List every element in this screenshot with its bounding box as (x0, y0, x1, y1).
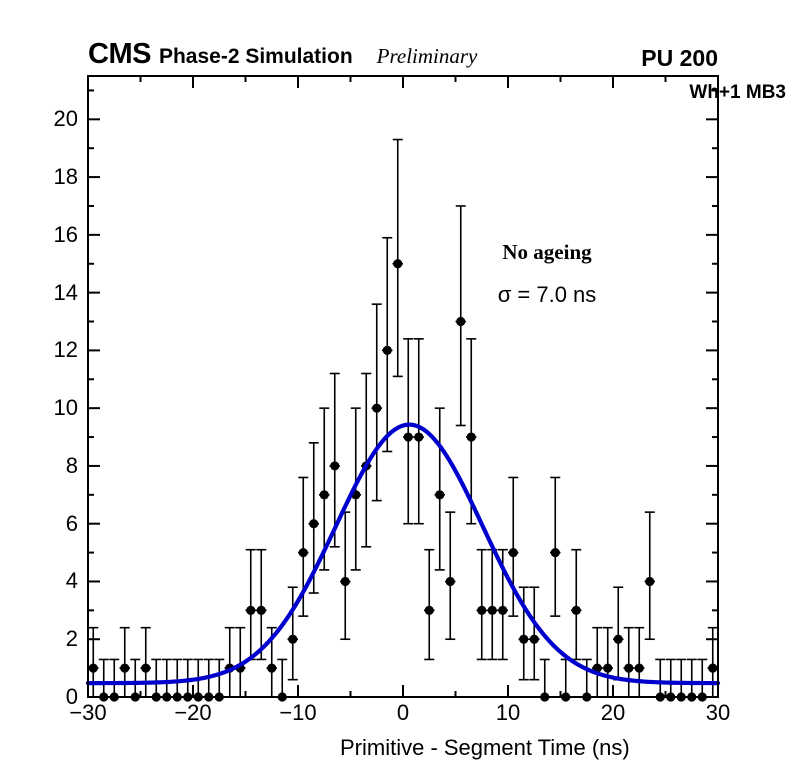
data-point (393, 259, 402, 268)
data-point (267, 664, 276, 673)
data-point (341, 577, 350, 586)
data-point (635, 664, 644, 673)
data-point (509, 548, 518, 557)
data-point (603, 664, 612, 673)
data-point (372, 404, 381, 413)
data-point (404, 432, 413, 441)
plot-frame (88, 76, 718, 697)
data-point (645, 577, 654, 586)
plot-canvas: CMS Phase-2 Simulation Preliminary PU 20… (0, 0, 796, 772)
data-point (299, 548, 308, 557)
data-point (624, 664, 633, 673)
data-point (551, 548, 560, 557)
data-point (614, 635, 623, 644)
data-point (246, 606, 255, 615)
data-point (120, 664, 129, 673)
data-point (330, 461, 339, 470)
data-point (425, 606, 434, 615)
data-point (488, 606, 497, 615)
chart-svg (0, 0, 796, 772)
data-point (467, 432, 476, 441)
data-point (572, 606, 581, 615)
data-point (414, 432, 423, 441)
data-point (456, 317, 465, 326)
data-point (320, 490, 329, 499)
data-point (383, 346, 392, 355)
data-series (88, 140, 718, 702)
data-point (519, 635, 528, 644)
data-point (89, 664, 98, 673)
data-point (435, 490, 444, 499)
data-point (288, 635, 297, 644)
data-point (446, 577, 455, 586)
data-point (708, 664, 717, 673)
data-point (309, 519, 318, 528)
data-point (477, 606, 486, 615)
data-point (141, 664, 150, 673)
data-point (530, 635, 539, 644)
data-point (257, 606, 266, 615)
plot-frame-top (88, 76, 718, 697)
fit-curve (88, 425, 718, 683)
data-point (498, 606, 507, 615)
